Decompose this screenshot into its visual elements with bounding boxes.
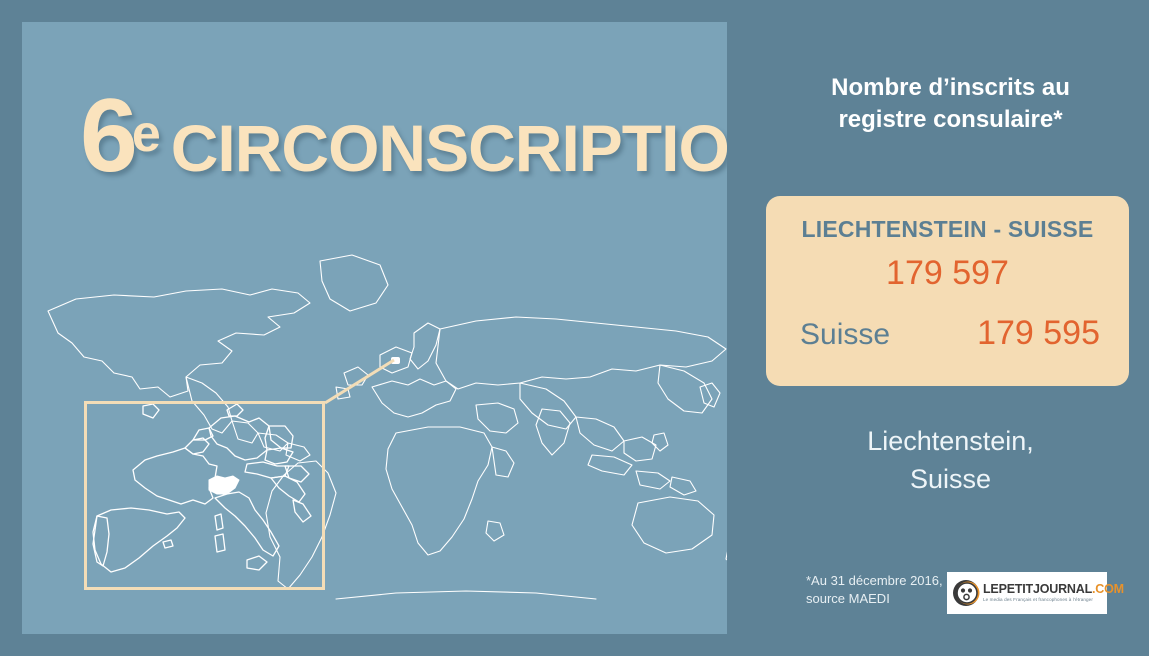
title-number: 6 [80, 78, 136, 194]
stats-card-title: LIECHTENSTEIN - SUISSE [766, 216, 1129, 243]
logo-text: LEPETITJOURNAL.COM Le media des Français… [983, 583, 1124, 603]
logo-wordmark: LEPETITJOURNAL.COM [983, 583, 1124, 596]
logo-word-dark: LEPETITJOURNAL [983, 582, 1092, 596]
stats-heading-line1: Nombre d’inscrits au [752, 72, 1149, 104]
country-item: Liechtenstein, [752, 422, 1149, 460]
stats-card-row-label: Suisse [800, 318, 890, 352]
stats-card-row-value: 179 595 [977, 314, 1100, 353]
page-title: 6eCIRCONSCRIPTION [80, 84, 727, 188]
stats-card-row: Suisse 179 595 [800, 314, 1100, 353]
title-ordinal: e [132, 105, 161, 163]
logo-tagline: Le media des Français et francophones à … [983, 598, 1124, 603]
logo-word-orange: .COM [1092, 582, 1124, 596]
europe-inset-box [84, 401, 325, 590]
country-item: Suisse [752, 460, 1149, 498]
countries-list: Liechtenstein, Suisse [752, 422, 1149, 499]
stats-heading: Nombre d’inscrits au registre consulaire… [752, 72, 1149, 135]
stats-column: Nombre d’inscrits au registre consulaire… [752, 0, 1149, 656]
switzerland-highlight-dot [391, 357, 400, 364]
infographic-poster: 6eCIRCONSCRIPTION Nombre d’inscrits au r… [0, 0, 1149, 656]
title-word: CIRCONSCRIPTION [171, 111, 727, 185]
stats-heading-line2: registre consulaire* [752, 104, 1149, 136]
map-panel: 6eCIRCONSCRIPTION [22, 22, 727, 634]
smiley-face-icon [951, 578, 981, 608]
stats-card-total: 179 597 [766, 254, 1129, 293]
lepetitjournal-logo[interactable]: LEPETITJOURNAL.COM Le media des Français… [947, 572, 1107, 614]
stats-card: LIECHTENSTEIN - SUISSE 179 597 Suisse 17… [766, 196, 1129, 386]
